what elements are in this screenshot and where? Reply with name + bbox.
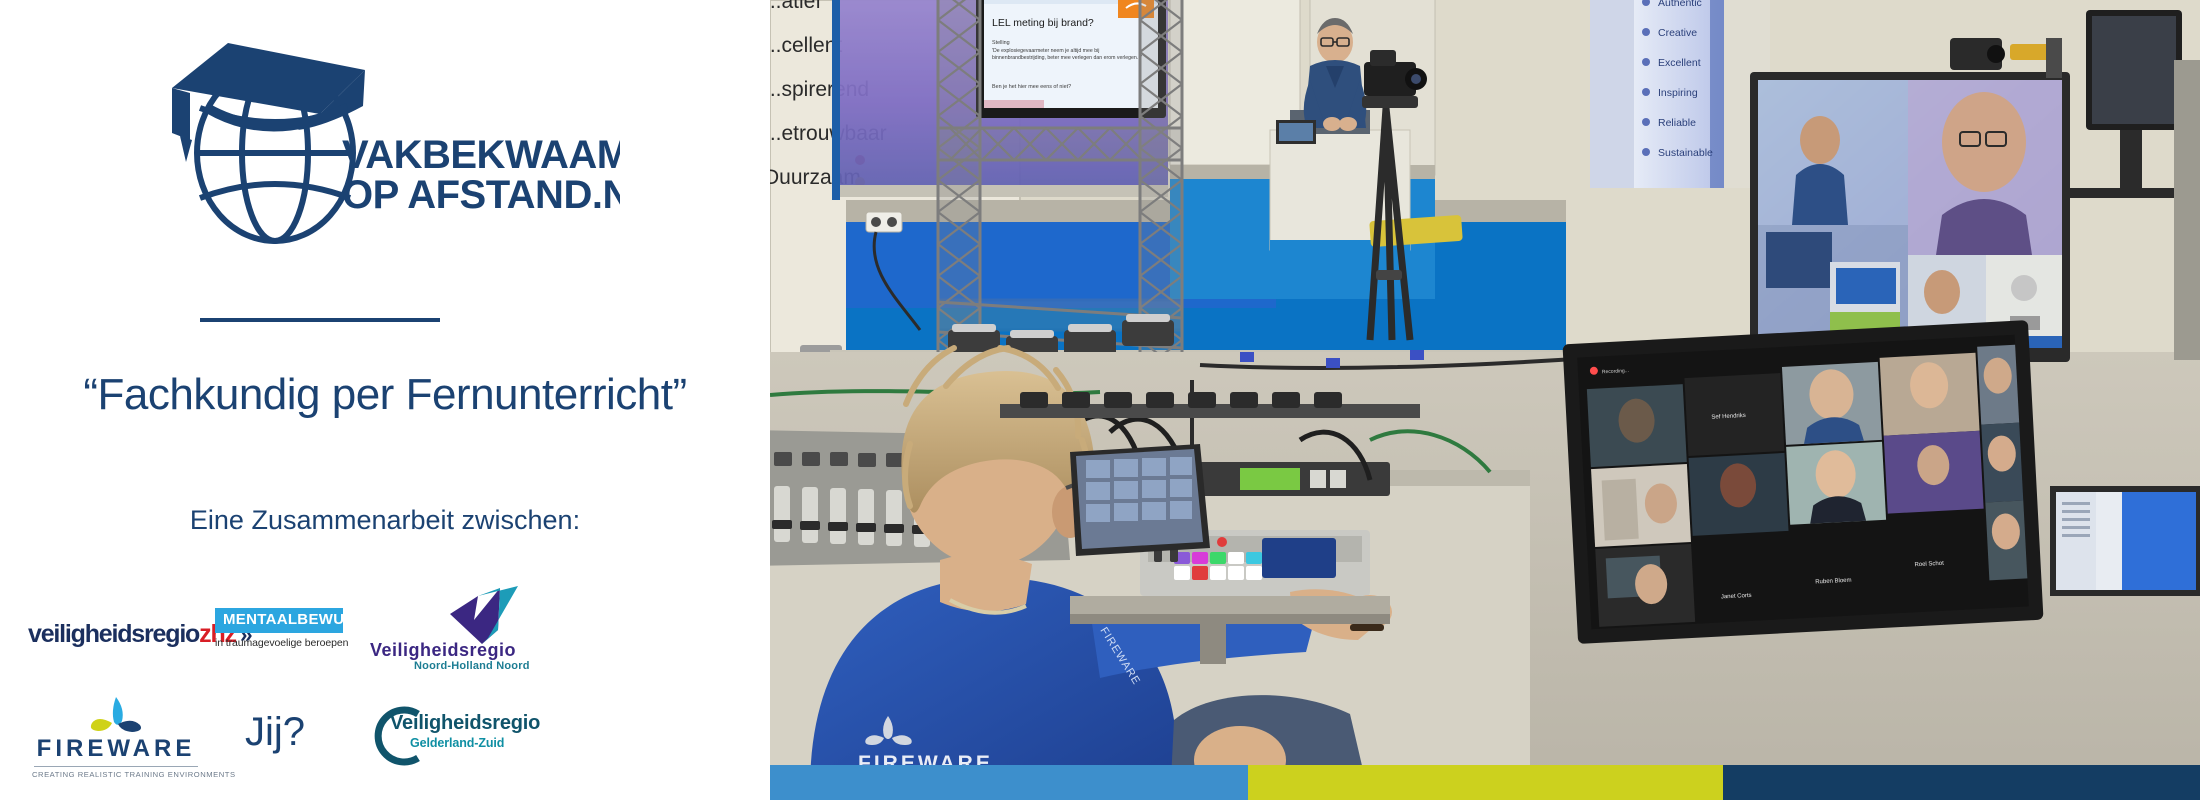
band-navy (1723, 765, 2200, 800)
partner-logo-mentaalbewust: MENTAALBEWUST in traumagevoelige beroepe… (215, 608, 343, 649)
fireware-flame-icon (32, 695, 200, 735)
swoosh-checkmark-icon (448, 586, 522, 646)
whiteboard-value-0: ...atief (770, 0, 821, 13)
slide-body: 'De explosiegevaarmeter neem je altijd m… (992, 48, 1152, 62)
logo-text-line2: OP AFSTAND.NL (342, 173, 620, 217)
fireware-name: FIREWARE (32, 735, 200, 763)
vr-gz-title: Veiligheidsregio (390, 712, 540, 735)
banner-value-3: Inspiring (1658, 87, 1698, 99)
banner-value-0: Authentic (1658, 0, 1702, 9)
left-info-panel: VAKBEKWAAM OP AFSTAND.NL “Fachkundig per… (0, 0, 770, 800)
center-laptop (1070, 444, 1210, 556)
brand-color-bands (770, 765, 2200, 800)
banner-value-4: Reliable (1658, 117, 1696, 129)
vr-nhn-subtitle: Noord-Holland Noord (414, 660, 530, 672)
mentaalbewust-bar: MENTAALBEWUST (215, 608, 343, 633)
mentaalbewust-title: MENTAALBEWUST (223, 611, 364, 628)
banner-value-5: Sustainable (1658, 147, 1713, 159)
whiteboard-value-1: ...cellent (770, 34, 842, 57)
far-right-laptop (2050, 486, 2200, 596)
graduation-cap-globe-icon: VAKBEKWAAM OP AFSTAND.NL (150, 18, 620, 248)
vr-zhz-main: veiligheidsregio (28, 620, 199, 648)
page-title: “Fachkundig per Fernunterricht” (0, 370, 770, 420)
slide-title: LEL meting bij brand? (992, 17, 1094, 29)
partner-logo-fireware: FIREWARE CREATING REALISTIC TRAINING ENV… (32, 695, 200, 779)
slide-bullet: Stelling (992, 40, 1010, 46)
logo-text-line1: VAKBEKWAAM (342, 133, 620, 177)
band-yellow (1248, 765, 1723, 800)
band-blue (770, 765, 1248, 800)
partner-logo-grid: veiligheidsregiozhz» MENTAALBEWUST in tr… (10, 590, 770, 790)
banner-value-2: Excellent (1658, 57, 1701, 69)
video-conference-display: Recording... Sef Hendriks (1562, 320, 2043, 644)
fireware-tagline: CREATING REALISTIC TRAINING ENVIRONMENTS (32, 770, 200, 779)
partner-placeholder-jij: Jij? (245, 710, 305, 755)
slide-canvas: VAKBEKWAAM OP AFSTAND.NL “Fachkundig per… (0, 0, 2200, 800)
slide-question: Ben je het hier mee eens of niet? (992, 84, 1071, 90)
divider-rule (200, 318, 440, 322)
banner-value-1: Creative (1658, 27, 1697, 39)
vr-gz-subtitle: Gelderland-Zuid (410, 736, 504, 750)
collaboration-label: Eine Zusammenarbeit zwischen: (0, 505, 770, 536)
studio-photograph: ...atief ...cellent ...spirerend ...etro… (770, 0, 2200, 800)
mentaalbewust-subtitle: in traumagevoelige beroepen (215, 637, 343, 649)
fireware-rule (34, 766, 198, 767)
brand-logo: VAKBEKWAAM OP AFSTAND.NL (150, 18, 620, 248)
vr-nhn-title: Veiligheidsregio (370, 640, 516, 661)
